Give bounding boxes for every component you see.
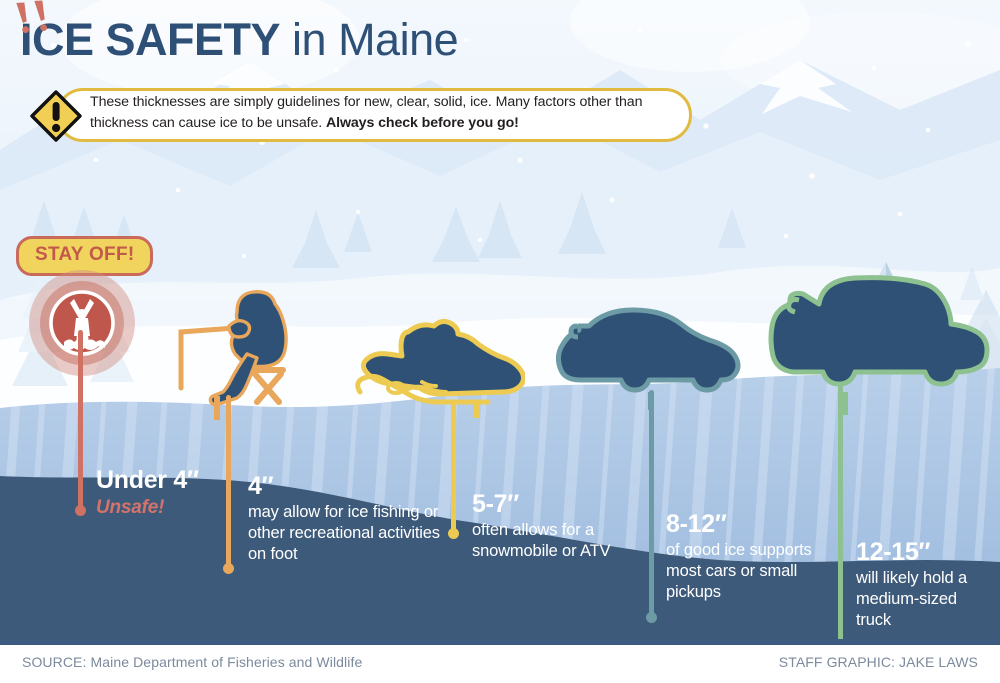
snowmobile-figure — [350, 318, 525, 418]
label-8-12: 8-12″ of good ice supports most cars or … — [666, 510, 831, 603]
stem-dot-8-12 — [646, 612, 657, 623]
warning-diamond-icon — [30, 90, 82, 142]
label-8-12-value: 8-12″ — [666, 510, 831, 538]
label-12-15-desc: will likely hold a medium-sized truck — [856, 568, 996, 631]
truck-figure — [765, 270, 990, 415]
double-exclamation-icon — [12, 0, 58, 40]
label-8-12-desc: of good ice supports most cars or small … — [666, 540, 831, 603]
label-5-7-value: 5-7″ — [472, 490, 652, 518]
label-5-7: 5-7″ often allows for a snowmobile or AT… — [472, 490, 652, 562]
footer: SOURCE: Maine Department of Fisheries an… — [0, 645, 1000, 683]
label-12-15: 12-15″ will likely hold a medium-sized t… — [856, 538, 996, 631]
stay-off-label: STAY OFF! — [35, 244, 134, 265]
label-4: 4″ may allow for ice fishing or other re… — [248, 472, 448, 565]
stem-dot-under-4 — [75, 505, 86, 516]
label-under-4-unsafe: Unsafe! — [96, 496, 246, 520]
stem-dot-4 — [223, 563, 234, 574]
label-under-4: Under 4″ Unsafe! — [96, 466, 246, 520]
label-4-desc: may allow for ice fishing or other recre… — [248, 502, 448, 565]
stem-line-5-7 — [451, 400, 456, 532]
footer-credit: STAFF GRAPHIC: JAKE LAWS — [779, 654, 978, 670]
stem-line-under-4 — [78, 330, 83, 508]
ice-safety-infographic: ICE SAFETY in Maine These thicknesses ar… — [0, 0, 1000, 683]
label-4-value: 4″ — [248, 472, 448, 500]
stem-line-12-15 — [838, 385, 843, 644]
ice-fisherman-figure — [175, 270, 315, 420]
label-12-15-value: 12-15″ — [856, 538, 996, 566]
page-title: ICE SAFETY in Maine — [20, 14, 458, 66]
label-under-4-value: Under 4″ — [96, 466, 246, 494]
stem-dot-5-7 — [448, 528, 459, 539]
footer-source: SOURCE: Maine Department of Fisheries an… — [22, 654, 362, 670]
title-bold: ICE SAFETY — [20, 14, 280, 65]
warning-text-bold: Always check before you go! — [326, 115, 519, 131]
label-5-7-desc: often allows for a snowmobile or ATV — [472, 520, 652, 562]
warning-callout-text: These thicknesses are simply guidelines … — [90, 92, 690, 134]
title-light: in Maine — [280, 14, 458, 65]
